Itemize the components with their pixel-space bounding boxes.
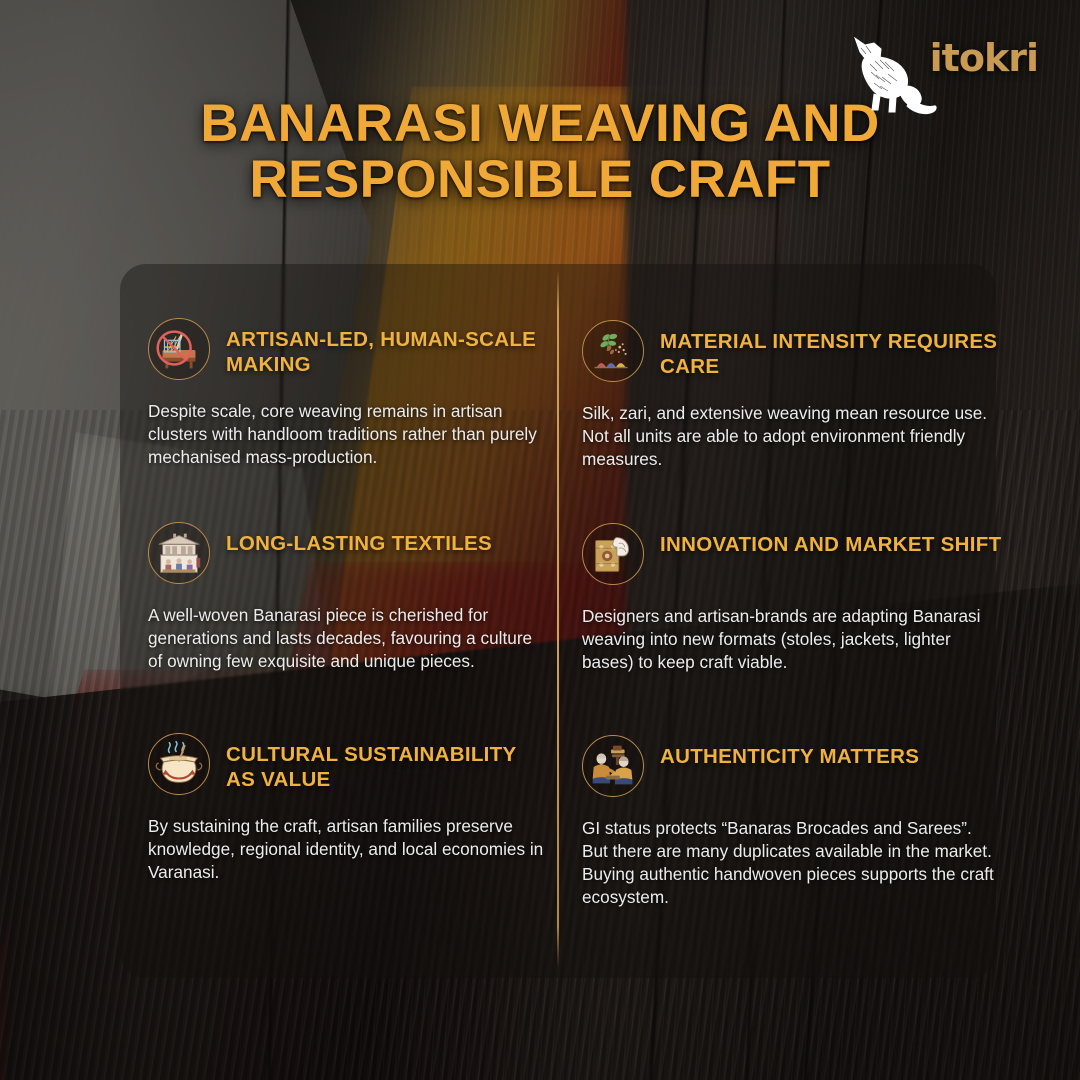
card-title: MATERIAL INTENSITY REQUIRES CARE — [660, 320, 1002, 379]
cat-illustration-icon — [844, 26, 940, 123]
card-innovation-market-shift: INNOVATION AND MARKET SHIFT Designers an… — [582, 523, 1002, 674]
column-divider — [557, 270, 559, 968]
card-header: LONG-LASTING TEXTILES — [148, 522, 548, 584]
dye-pot-steam-icon — [148, 733, 210, 795]
page-title-line-1: BANARASI WEAVING AND — [120, 96, 960, 152]
card-body: A well-woven Banarasi piece is cherished… — [148, 604, 548, 673]
card-cultural-sustainability: CULTURAL SUSTAINABILITY AS VALUE By sust… — [148, 733, 548, 884]
no-machine-loom-icon — [148, 318, 210, 380]
card-authenticity-matters: AUTHENTICITY MATTERS GI status protects … — [582, 735, 1002, 909]
brand-logo[interactable]: itokri — [930, 36, 1038, 80]
card-header: INNOVATION AND MARKET SHIFT — [582, 523, 1002, 585]
infographic-canvas: itokri BANARASI WEAVING AND RESPONSIBLE … — [0, 0, 1080, 1080]
craft-shop-building-icon — [148, 522, 210, 584]
card-long-lasting-textiles: LONG-LASTING TEXTILES A well-woven Banar… — [148, 522, 548, 673]
card-material-intensity: MATERIAL INTENSITY REQUIRES CARE Silk, z… — [582, 320, 1002, 471]
card-title: CULTURAL SUSTAINABILITY AS VALUE — [226, 733, 548, 792]
card-artisan-led: ARTISAN-LED, HUMAN-SCALE MAKING Despite … — [148, 318, 548, 469]
card-title: LONG-LASTING TEXTILES — [226, 522, 492, 556]
card-title: ARTISAN-LED, HUMAN-SCALE MAKING — [226, 318, 548, 377]
card-title: AUTHENTICITY MATTERS — [660, 735, 919, 769]
card-body: GI status protects “Banaras Brocades and… — [582, 817, 1002, 909]
brand-logo-text: itokri — [930, 36, 1038, 80]
card-header: MATERIAL INTENSITY REQUIRES CARE — [582, 320, 1002, 382]
card-body: Despite scale, core weaving remains in a… — [148, 400, 548, 469]
card-header: ARTISAN-LED, HUMAN-SCALE MAKING — [148, 318, 548, 380]
natural-dye-leaves-icon — [582, 320, 644, 382]
two-artisans-working-icon — [582, 735, 644, 797]
card-body: Silk, zari, and extensive weaving mean r… — [582, 402, 1002, 471]
card-body: By sustaining the craft, artisan familie… — [148, 815, 548, 884]
card-header: CULTURAL SUSTAINABILITY AS VALUE — [148, 733, 548, 795]
card-header: AUTHENTICITY MATTERS — [582, 735, 1002, 797]
card-title: INNOVATION AND MARKET SHIFT — [660, 523, 1001, 557]
card-body: Designers and artisan-brands are adaptin… — [582, 605, 1002, 674]
page-title-line-2: RESPONSIBLE CRAFT — [120, 152, 960, 208]
hand-holding-fabric-icon — [582, 523, 644, 585]
